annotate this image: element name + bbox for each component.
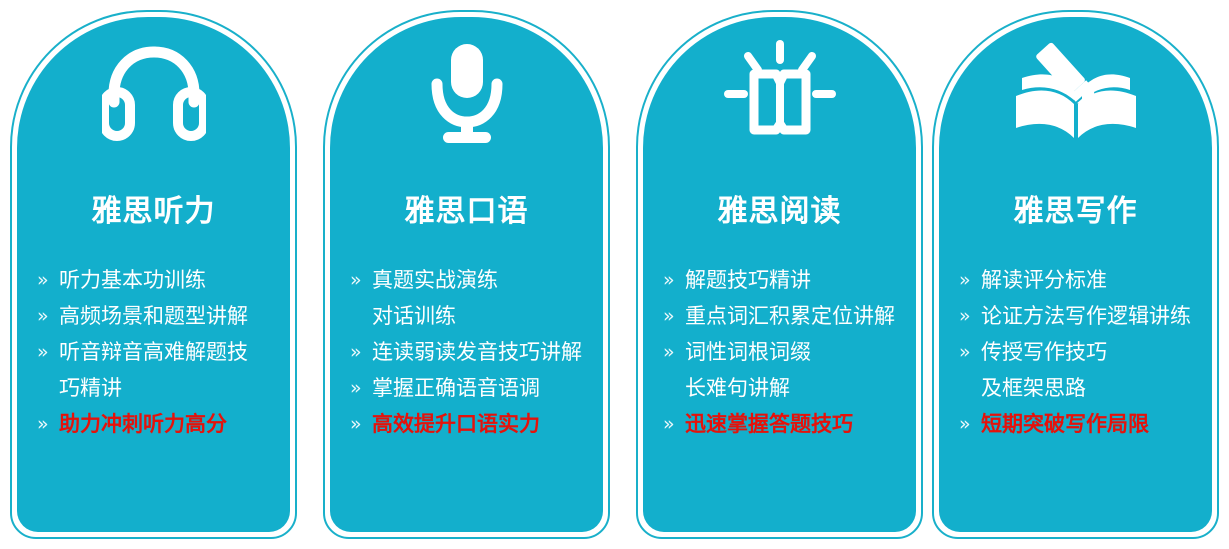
list-item-label: 重点词汇积累定位讲解 [685, 298, 908, 334]
microphone-icon [330, 33, 603, 155]
list-item-highlighted: » 迅速掌握答题技巧 [663, 406, 908, 442]
card-title: 雅思写作 [939, 195, 1212, 229]
list-item-label: 解题技巧精讲 [685, 262, 908, 298]
list-item-label: 解读评分标准 [981, 262, 1204, 298]
list-item: » 听音辩音高难解题技 [37, 334, 282, 370]
book-with-pencil-icon [939, 33, 1212, 155]
list-item-label: 听音辩音高难解题技 [59, 334, 282, 370]
list-item-label: 高频场景和题型讲解 [59, 298, 282, 334]
shining-open-book-icon [643, 33, 916, 155]
card-feature-list: » 解题技巧精讲 » 重点词汇积累定位讲解 » 词性词根词缀 长难句讲解 » [663, 262, 908, 442]
list-item: » 掌握正确语音语调 [350, 370, 595, 406]
card-feature-list: » 真题实战演练 对话训练 » 连读弱读发音技巧讲解 » 掌握正确语音语调 » [350, 262, 595, 442]
chevron-double-right-icon: » [37, 298, 59, 334]
card-title: 雅思口语 [330, 195, 603, 229]
chevron-double-right-icon: » [37, 406, 59, 442]
chevron-double-right-icon: » [663, 334, 685, 370]
headphones-icon [17, 33, 290, 155]
list-item-label: 巧精讲 [59, 370, 282, 406]
list-item-label: 传授写作技巧 [981, 334, 1204, 370]
list-item: 及框架思路 [959, 370, 1204, 406]
course-card-reading[interactable]: 雅思阅读 » 解题技巧精讲 » 重点词汇积累定位讲解 » 词性词根词缀 长难句讲… [636, 10, 923, 539]
list-item-highlighted: » 助力冲刺听力高分 [37, 406, 282, 442]
card-body: 雅思写作 » 解读评分标准 » 论证方法写作逻辑讲练 » 传授写作技巧 及框架思… [939, 17, 1212, 532]
chevron-double-right-icon: » [959, 406, 981, 442]
card-body: 雅思阅读 » 解题技巧精讲 » 重点词汇积累定位讲解 » 词性词根词缀 长难句讲… [643, 17, 916, 532]
list-item-label: 迅速掌握答题技巧 [685, 406, 908, 442]
list-item: 对话训练 [350, 298, 595, 334]
card-feature-list: » 听力基本功训练 » 高频场景和题型讲解 » 听音辩音高难解题技 巧精讲 » [37, 262, 282, 442]
list-item-highlighted: » 高效提升口语实力 [350, 406, 595, 442]
list-item-highlighted: » 短期突破写作局限 [959, 406, 1204, 442]
list-item-label: 听力基本功训练 [59, 262, 282, 298]
card-title: 雅思阅读 [643, 195, 916, 229]
list-item: » 传授写作技巧 [959, 334, 1204, 370]
list-item: 巧精讲 [37, 370, 282, 406]
card-feature-list: » 解读评分标准 » 论证方法写作逻辑讲练 » 传授写作技巧 及框架思路 » [959, 262, 1204, 442]
list-item-label: 短期突破写作局限 [981, 406, 1204, 442]
list-item: » 重点词汇积累定位讲解 [663, 298, 908, 334]
list-item: » 解读评分标准 [959, 262, 1204, 298]
list-item-label: 论证方法写作逻辑讲练 [981, 298, 1204, 334]
course-card-writing[interactable]: 雅思写作 » 解读评分标准 » 论证方法写作逻辑讲练 » 传授写作技巧 及框架思… [932, 10, 1219, 539]
chevron-double-right-icon: » [959, 298, 981, 334]
chevron-double-right-icon: » [959, 334, 981, 370]
course-card-speaking[interactable]: 雅思口语 » 真题实战演练 对话训练 » 连读弱读发音技巧讲解 » 掌握正确语音… [323, 10, 610, 539]
list-item: 长难句讲解 [663, 370, 908, 406]
chevron-double-right-icon: » [350, 406, 372, 442]
list-item: » 听力基本功训练 [37, 262, 282, 298]
list-item: » 论证方法写作逻辑讲练 [959, 298, 1204, 334]
chevron-double-right-icon: » [37, 262, 59, 298]
list-item: » 真题实战演练 [350, 262, 595, 298]
chevron-double-right-icon: » [350, 370, 372, 406]
chevron-double-right-icon: » [350, 262, 372, 298]
list-item-label: 及框架思路 [981, 370, 1204, 406]
list-item: » 解题技巧精讲 [663, 262, 908, 298]
chevron-double-right-icon: » [37, 334, 59, 370]
course-card-listening[interactable]: 雅思听力 » 听力基本功训练 » 高频场景和题型讲解 » 听音辩音高难解题技 巧… [10, 10, 297, 539]
list-item-label: 对话训练 [372, 298, 595, 334]
card-body: 雅思听力 » 听力基本功训练 » 高频场景和题型讲解 » 听音辩音高难解题技 巧… [17, 17, 290, 532]
list-item-label: 高效提升口语实力 [372, 406, 595, 442]
list-item-label: 长难句讲解 [685, 370, 908, 406]
list-item-label: 掌握正确语音语调 [372, 370, 595, 406]
chevron-double-right-icon: » [663, 262, 685, 298]
card-title: 雅思听力 [17, 195, 290, 229]
chevron-double-right-icon: » [663, 406, 685, 442]
chevron-double-right-icon: » [959, 262, 981, 298]
card-body: 雅思口语 » 真题实战演练 对话训练 » 连读弱读发音技巧讲解 » 掌握正确语音… [330, 17, 603, 532]
list-item-label: 连读弱读发音技巧讲解 [372, 334, 595, 370]
chevron-double-right-icon: » [350, 334, 372, 370]
list-item-label: 助力冲刺听力高分 [59, 406, 282, 442]
chevron-double-right-icon: » [663, 298, 685, 334]
list-item: » 连读弱读发音技巧讲解 [350, 334, 595, 370]
list-item-label: 真题实战演练 [372, 262, 595, 298]
list-item-label: 词性词根词缀 [685, 334, 908, 370]
list-item: » 高频场景和题型讲解 [37, 298, 282, 334]
list-item: » 词性词根词缀 [663, 334, 908, 370]
ielts-course-cards-board: 雅思听力 » 听力基本功训练 » 高频场景和题型讲解 » 听音辩音高难解题技 巧… [0, 0, 1229, 549]
